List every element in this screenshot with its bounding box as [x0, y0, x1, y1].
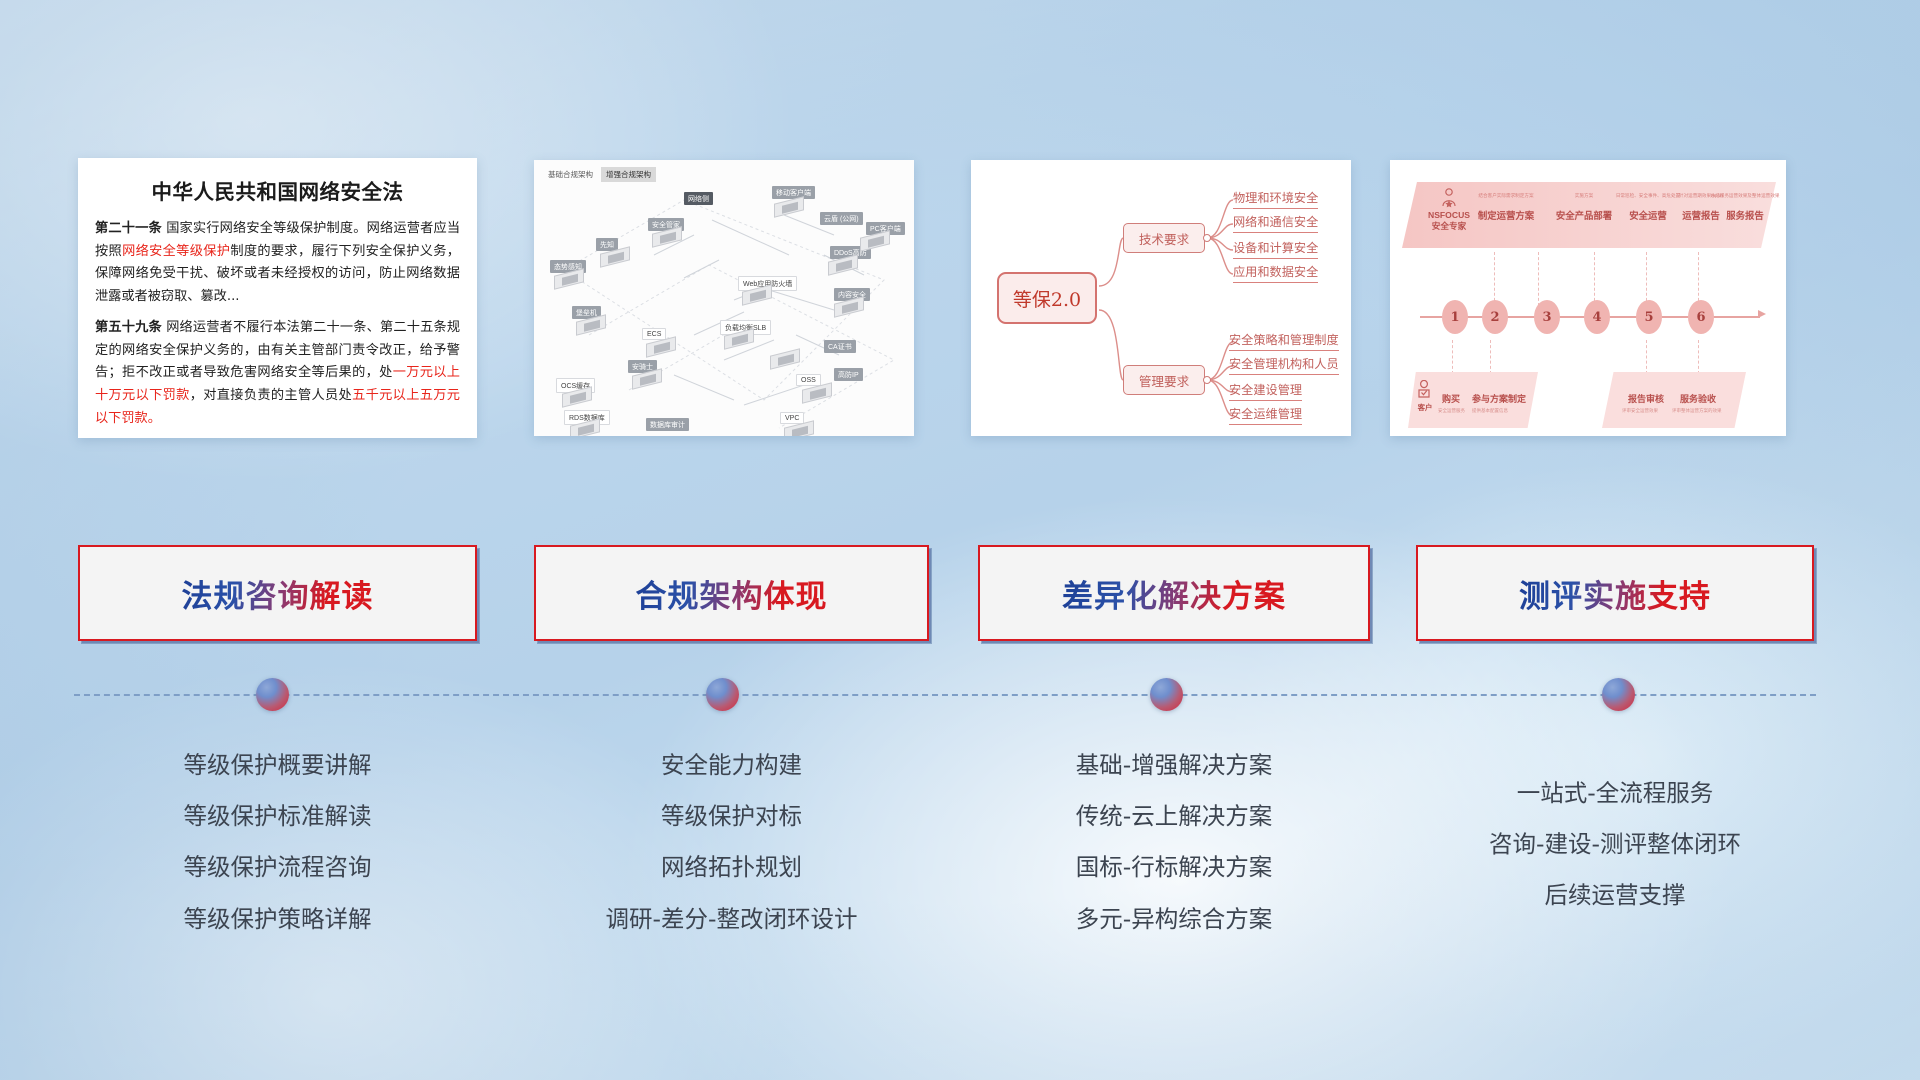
mindmap-leaf-tech-4: 应用和数据安全: [1233, 262, 1318, 283]
image-card-row: 中华人民共和国网络安全法 第二十一条 国家实行网络安全等级保护制度。网络运营者应…: [0, 158, 1920, 438]
timeline-step-5: 5: [1636, 300, 1662, 334]
mindmap-branch-technical: 技术要求: [1123, 223, 1205, 253]
tab-enhanced-architecture[interactable]: 增强合规架构: [601, 167, 656, 182]
service-timeline-card[interactable]: NSFOCUS 安全专家 结合客户实际需求制定方案 制定运营方案 实施方案 安全…: [1390, 160, 1786, 436]
customer-label: 客户: [1410, 402, 1440, 413]
customer-task-2-main: 参与方案制定: [1472, 392, 1526, 405]
law-article-59-label: 第五十九条: [95, 320, 162, 335]
customer-task-4-main: 服务验收: [1680, 392, 1716, 405]
timeline-marker-4[interactable]: [1602, 678, 1635, 711]
section-items-3: 基础-增强解决方案 传统-云上解决方案 国标-行标解决方案 多元-异构综合方案: [978, 740, 1370, 945]
timeline-marker-2[interactable]: [706, 678, 739, 711]
list-item: 多元-异构综合方案: [978, 894, 1370, 945]
customer-task-1-main: 购买: [1442, 392, 1460, 405]
list-item: 等级保护流程咨询: [78, 842, 477, 893]
network-diagram-tabs: 基础合规架构增强合规架构: [543, 167, 659, 182]
section-title-box-3[interactable]: 差异化解决方案: [978, 545, 1370, 641]
mindmap: 等保2.0 技术要求 管理要求 物理和环境安全 网络和通信安全 设备和计算安全 …: [971, 160, 1351, 436]
timeline-phase-5-sub: 总结服务运营效果及整体运营效果: [1708, 193, 1782, 199]
list-item: 安全能力构建: [534, 740, 929, 791]
section-title-2-label: 合规架构体现: [636, 571, 828, 616]
customer-task-3-sub: 评审安全运营效果: [1622, 408, 1658, 414]
law-article-59-text-2: ，对直接负责的主管人员处: [190, 388, 352, 403]
list-item: 基础-增强解决方案: [978, 740, 1370, 791]
customer-task-3-main: 报告审核: [1628, 392, 1664, 405]
mindmap-branch-management: 管理要求: [1123, 365, 1205, 395]
node-label-oss: OSS: [796, 374, 821, 386]
section-items-2: 安全能力构建 等级保护对标 网络拓扑规划 调研-差分-整改闭环设计: [534, 740, 929, 945]
customer-person-icon: [1416, 380, 1432, 400]
mindmap-leaf-mgmt-1: 安全策略和管理制度: [1229, 330, 1339, 351]
mindmap-leaf-mgmt-2: 安全管理机构和人员: [1229, 354, 1339, 375]
service-timeline: NSFOCUS 安全专家 结合客户实际需求制定方案 制定运营方案 实施方案 安全…: [1390, 160, 1786, 436]
law-article-21: 第二十一条 国家实行网络安全等级保护制度。网络运营者应当按照网络安全等级保护制度…: [78, 218, 477, 309]
timeline-phase-1-sub: 结合客户实际需求制定方案: [1462, 193, 1550, 199]
node-label-ecs: ECS: [642, 328, 666, 340]
timeline-step-2: 2: [1482, 300, 1508, 334]
customer-task-band-left: 客户 购买 安全运营服务 参与方案制定 提供基本配置信息: [1408, 372, 1538, 428]
mindmap-collapse-dot-technical[interactable]: [1203, 234, 1211, 242]
list-item: 后续运营支撑: [1416, 870, 1814, 921]
section-title-1-label: 法规咨询解读: [182, 571, 374, 616]
section-title-box-1[interactable]: 法规咨询解读: [78, 545, 477, 641]
list-item: 传统-云上解决方案: [978, 791, 1370, 842]
section-title-box-4[interactable]: 测评实施支持: [1416, 545, 1814, 641]
section-items-1: 等级保护概要讲解 等级保护标准解读 等级保护流程咨询 等级保护策略详解: [78, 740, 477, 945]
customer-task-4-sub: 评审整体运营方案的效果: [1672, 408, 1722, 414]
node-label-db-audit: 数据库审计: [646, 418, 689, 431]
section-items-4: 一站式-全流程服务 咨询-建设-测评整体闭环 后续运营支撑: [1416, 768, 1814, 922]
node-label-network-side: 网络侧: [684, 192, 713, 205]
list-item: 等级保护策略详解: [78, 894, 477, 945]
timeline-step-1: 1: [1442, 300, 1468, 334]
timeline-axis-arrow-icon: [1758, 310, 1766, 318]
mindmap-leaf-mgmt-3: 安全建设管理: [1229, 380, 1302, 401]
mindmap-leaf-tech-3: 设备和计算安全: [1233, 238, 1318, 259]
customer-task-2-sub: 提供基本配置信息: [1472, 408, 1508, 414]
timeline-step-3: 3: [1534, 300, 1560, 334]
list-item: 等级保护对标: [534, 791, 929, 842]
list-item: 国标-行标解决方案: [978, 842, 1370, 893]
timeline-phase-5: 总结服务运营效果及整体运营效果 服务报告: [1708, 193, 1782, 222]
list-item: 网络拓扑规划: [534, 842, 929, 893]
list-item: 调研-差分-整改闭环设计: [534, 894, 929, 945]
timeline-phase-1: 结合客户实际需求制定方案 制定运营方案: [1462, 193, 1550, 222]
nsfocus-brand-sub: 安全专家: [1418, 220, 1480, 232]
section-title-3-label: 差异化解决方案: [1062, 571, 1286, 616]
law-card-title: 中华人民共和国网络安全法: [78, 175, 477, 205]
timeline-dashed-axis: [74, 694, 1816, 696]
section-title-row: 法规咨询解读 合规架构体现 差异化解决方案 测评实施支持: [0, 545, 1920, 645]
network-architecture-card[interactable]: 基础合规架构增强合规架构: [534, 160, 914, 436]
section-title-box-2[interactable]: 合规架构体现: [534, 545, 929, 641]
list-item: 等级保护概要讲解: [78, 740, 477, 791]
mindmap-collapse-dot-management[interactable]: [1203, 376, 1211, 384]
timeline-phase-5-main: 服务报告: [1708, 208, 1782, 222]
mindmap-leaf-tech-2: 网络和通信安全: [1233, 212, 1318, 233]
section-title-4-label: 测评实施支持: [1519, 571, 1711, 616]
node-label-vpc: VPC: [780, 412, 804, 424]
list-item: 咨询-建设-测评整体闭环: [1416, 819, 1814, 870]
node-label-cloud-shield: 云盾 (公网): [820, 212, 863, 225]
mindmap-leaf-mgmt-4: 安全运维管理: [1229, 404, 1302, 425]
expert-person-icon: [1440, 188, 1458, 208]
customer-task-band-right: 报告审核 评审安全运营效果 服务验收 评审整体运营方案的效果: [1602, 372, 1746, 428]
timeline-marker-3[interactable]: [1150, 678, 1183, 711]
network-diagram: 基础合规架构增强合规架构: [534, 160, 914, 436]
list-item: 等级保护标准解读: [78, 791, 477, 842]
customer-task-1-sub: 安全运营服务: [1438, 408, 1465, 414]
node-label-gaofang-ip: 高防IP: [834, 368, 863, 381]
tab-basic-architecture[interactable]: 基础合规架构: [543, 167, 598, 182]
timeline-phase-1-main: 制定运营方案: [1462, 208, 1550, 222]
law-article-21-highlight: 网络安全等级保护: [122, 244, 230, 259]
mindmap-card[interactable]: 等保2.0 技术要求 管理要求 物理和环境安全 网络和通信安全 设备和计算安全 …: [971, 160, 1351, 436]
mindmap-leaf-tech-1: 物理和环境安全: [1233, 188, 1318, 209]
law-text-card[interactable]: 中华人民共和国网络安全法 第二十一条 国家实行网络安全等级保护制度。网络运营者应…: [78, 158, 477, 438]
list-item: 一站式-全流程服务: [1416, 768, 1814, 819]
mindmap-root-node: 等保2.0: [997, 272, 1097, 324]
timeline-step-4: 4: [1584, 300, 1610, 334]
law-article-21-label: 第二十一条: [95, 221, 162, 236]
node-label-mobile-client: 移动客户端: [772, 186, 815, 199]
timeline-step-6: 6: [1688, 300, 1714, 334]
timeline-marker-1[interactable]: [256, 678, 289, 711]
law-article-59: 第五十九条 网络运营者不履行本法第二十一条、第二十五条规定的网络安全保护义务的，…: [78, 317, 477, 431]
node-label-ca-cert: CA证书: [824, 340, 856, 353]
